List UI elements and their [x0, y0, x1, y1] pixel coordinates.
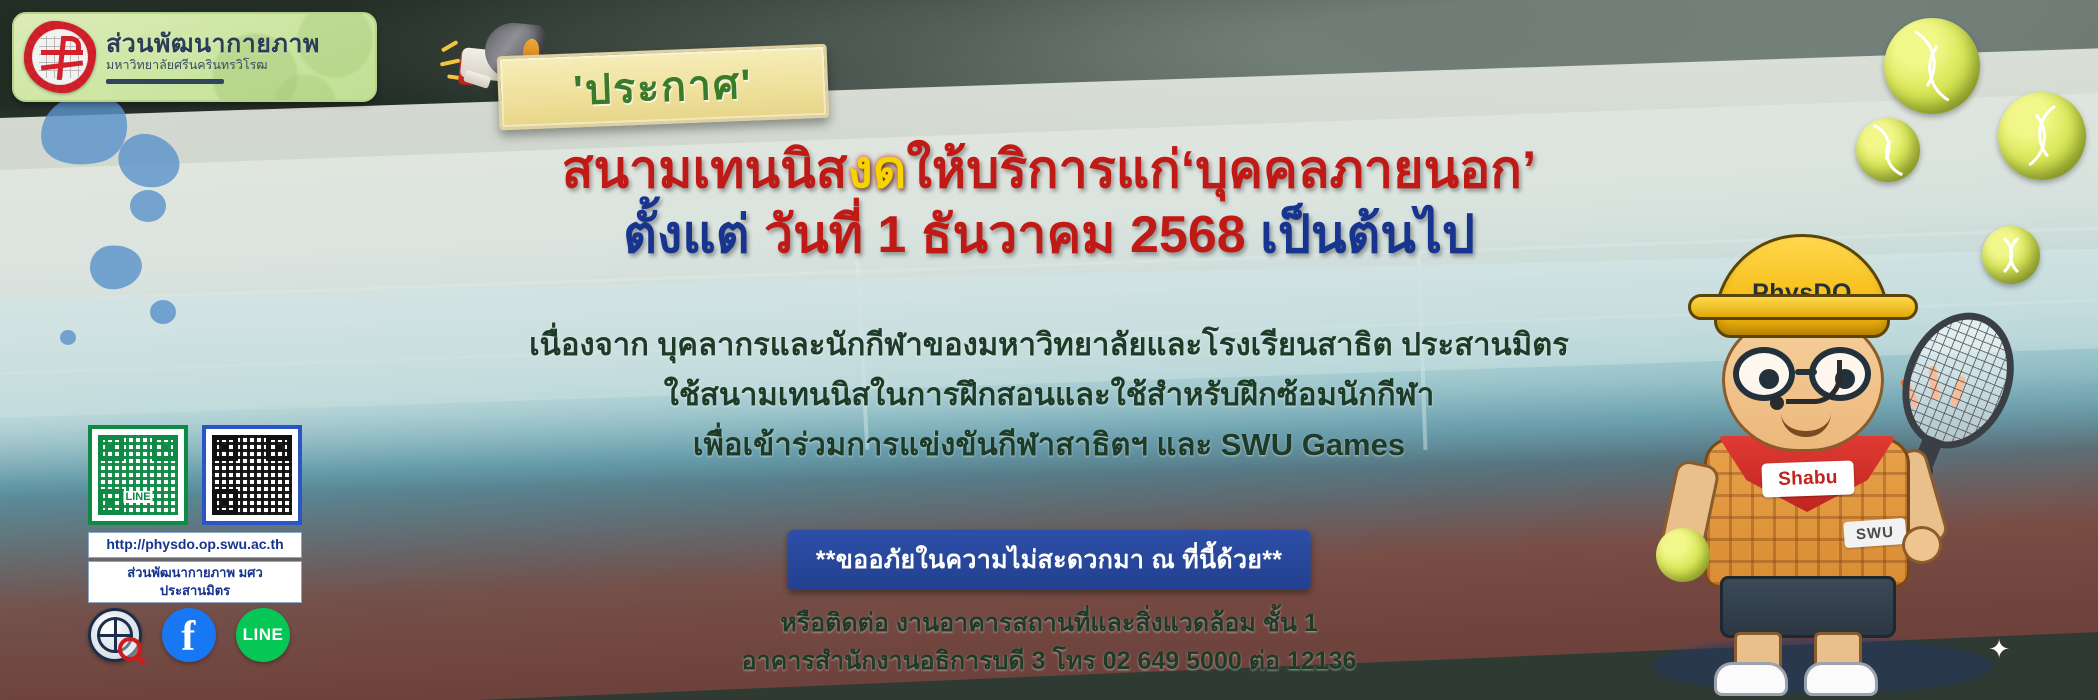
announcement-sign-group: 'ประกาศ': [430, 22, 850, 132]
announcement-label: 'ประกาศ': [573, 63, 754, 111]
tennis-ball-icon: [1884, 18, 1980, 114]
mascot-hand-right: [1902, 526, 1942, 564]
social-links: f LINE: [88, 608, 290, 662]
website-search-icon[interactable]: [88, 608, 142, 662]
mascot-shorts: [1720, 576, 1896, 638]
headline-line-2-pre: ตั้งแต่: [623, 206, 749, 264]
mascot-swu-text: SWU: [1855, 523, 1894, 543]
line-qr-label: LINE: [123, 491, 152, 503]
headline-effective-date: วันที่ 1 ธันวาคม 2568: [750, 206, 1261, 264]
mascot-shoe: [1714, 662, 1788, 696]
headline-line-1-post: ให้บริการแก่‘บุคคลภายนอก’: [907, 141, 1537, 199]
swu-seal-icon: [24, 21, 96, 93]
website-qr-code[interactable]: [202, 425, 302, 525]
org-university: มหาวิทยาลัยศรีนครินทรวิโรฒ: [106, 59, 320, 73]
mascot-shoe: [1804, 662, 1878, 696]
mascot-swu-tag: SWU: [1843, 518, 1907, 548]
line-icon[interactable]: LINE: [236, 608, 290, 662]
announcement-sign: 'ประกาศ': [497, 44, 830, 131]
org-caption: ส่วนพัฒนากายภาพ มศว ประสานมิตร: [127, 565, 263, 598]
line-qr-code[interactable]: LINE: [88, 425, 188, 525]
headline-line-1: สนามเทนนิสงดให้บริการแก่‘บุคคลภายนอก’: [0, 140, 2098, 201]
physdo-mascot: Shabu SWU PhysDO: [1658, 200, 1988, 700]
headline-highlight-word: งด: [847, 141, 906, 199]
mascot-badge: Shabu: [1761, 460, 1854, 497]
line-glyph: LINE: [243, 625, 284, 645]
mascot-helmet-brim: [1688, 294, 1918, 320]
website-url: http://physdo.op.swu.ac.th: [106, 536, 283, 552]
announcement-banner: ส่วนพัฒนากายภาพ มหาวิทยาลัยศรีนครินทรวิโ…: [0, 0, 2098, 700]
mascot-tennis-ball: [1656, 528, 1710, 582]
organization-header-plaque: ส่วนพัฒนากายภาพ มหาวิทยาลัยศรีนครินทรวิโ…: [12, 12, 377, 102]
org-caption-bar: ส่วนพัฒนากายภาพ มศว ประสานมิตร: [88, 561, 302, 603]
mascot-helmet: PhysDO: [1714, 234, 1890, 338]
org-name: ส่วนพัฒนากายภาพ: [106, 31, 320, 57]
plaque-divider: [106, 79, 224, 84]
headline-line-1-pre: สนามเทนนิส: [562, 141, 848, 199]
qr-code-group: LINE http://physdo.op.swu.ac.th ส่วนพัฒน…: [88, 425, 328, 603]
mascot-mouth: [1781, 413, 1831, 437]
apology-banner: **ขออภัยในความไม่สะดวกมา ณ ที่นี้ด้วย**: [788, 530, 1311, 590]
apology-text: **ขออภัยในความไม่สะดวกมา ณ ที่นี้ด้วย**: [816, 546, 1283, 574]
sparkle-icon: ✦: [1988, 636, 2010, 662]
website-url-bar[interactable]: http://physdo.op.swu.ac.th: [88, 532, 302, 558]
mascot-badge-text: Shabu: [1778, 467, 1838, 491]
mascot-headset-tip: [1770, 396, 1784, 410]
facebook-icon[interactable]: f: [162, 608, 216, 662]
facebook-glyph: f: [181, 616, 195, 658]
headline-line-2-post: เป็นต้นไป: [1260, 206, 1475, 264]
